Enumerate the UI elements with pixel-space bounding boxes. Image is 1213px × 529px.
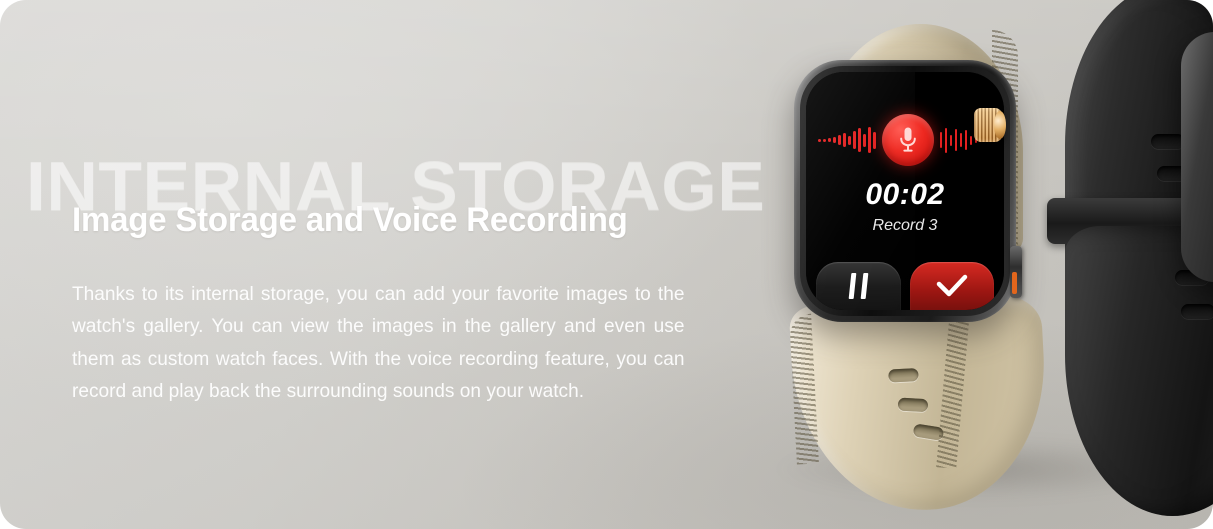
feature-banner: INTERNAL STORAGE Image Storage and Voice… — [0, 0, 1213, 529]
pause-icon — [850, 273, 867, 299]
watch-product-group: 00:02 Record 3 — [740, 0, 1213, 529]
black-watch-case — [1181, 32, 1213, 282]
body-paragraph: Thanks to its internal storage, you can … — [72, 278, 685, 407]
recording-label: Record 3 — [806, 218, 1004, 234]
waveform-left — [818, 123, 876, 157]
strap-hole — [1181, 304, 1213, 319]
confirm-button[interactable] — [910, 262, 995, 310]
strap-hole — [1151, 134, 1185, 149]
page-title: Image Storage and Voice Recording — [72, 200, 683, 240]
watch-beige: 00:02 Record 3 — [760, 0, 1070, 529]
check-icon — [935, 273, 969, 299]
side-button[interactable] — [1010, 246, 1022, 298]
beige-watch-case: 00:02 Record 3 — [794, 60, 1016, 322]
copy-block: Image Storage and Voice Recording Thanks… — [72, 200, 702, 408]
watch-display: 00:02 Record 3 — [806, 72, 1004, 310]
strap-texture — [936, 308, 970, 469]
recording-controls — [816, 262, 994, 310]
pause-button[interactable] — [816, 262, 901, 310]
strap-hole — [898, 398, 929, 413]
crown-dial[interactable] — [974, 108, 1002, 142]
strap-hole — [888, 368, 919, 383]
beige-strap-lower — [789, 294, 1052, 517]
strap-texture — [789, 314, 819, 465]
recording-timer: 00:02 — [806, 180, 1004, 210]
microphone-icon[interactable] — [882, 114, 934, 166]
